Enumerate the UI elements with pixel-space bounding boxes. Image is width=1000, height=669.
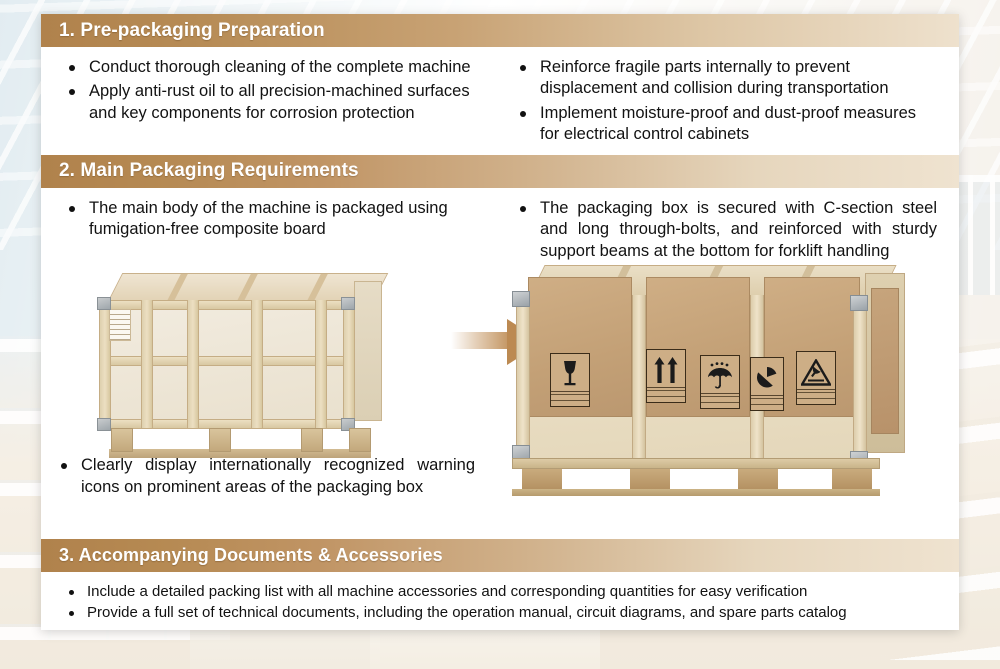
bullet-text: Conduct thorough cleaning of the complet… [89, 58, 471, 76]
section-2-right-column: The packaging box is secured with C-sect… [500, 198, 959, 265]
corner-bracket-icon [512, 291, 530, 307]
list-item: Clearly display internationally recogniz… [55, 455, 475, 498]
no-hand-hooks-icon [750, 357, 784, 411]
warning-triangle-glyph [801, 355, 831, 389]
packaging-figure-row: Clearly display internationally recogniz… [41, 265, 959, 533]
list-item: Reinforce fragile parts internally to pr… [514, 57, 937, 100]
section-1-body: Conduct thorough cleaning of the complet… [41, 47, 959, 155]
section-3-body: Include a detailed packing list with all… [41, 572, 959, 631]
section-1-right-bullet-list: Reinforce fragile parts internally to pr… [514, 57, 937, 146]
bullet-dot-icon [69, 206, 75, 212]
bullet-text: Implement moisture-proof and dust-proof … [540, 104, 916, 143]
kraft-crate-image [506, 265, 914, 501]
bullet-dot-icon [61, 463, 67, 469]
fragile-icon [550, 353, 590, 407]
bullet-dot-icon [520, 65, 526, 71]
bullet-dot-icon [69, 590, 74, 595]
umbrella-rain-glyph [706, 359, 734, 393]
bullet-dot-icon [520, 206, 526, 212]
section-3-title: 3. Accompanying Documents & Accessories [59, 545, 443, 566]
bullet-text: The packaging box is secured with C-sect… [540, 199, 937, 260]
crate-stile [632, 295, 646, 459]
crate-stile [853, 295, 867, 459]
pallet-foot [301, 428, 323, 452]
bullet-text: Provide a full set of technical document… [87, 604, 847, 621]
section-1-right-column: Reinforce fragile parts internally to pr… [500, 57, 959, 149]
crate-shipping-label [109, 309, 131, 341]
corner-bracket-icon [341, 297, 355, 310]
bullet-text: The main body of the machine is packaged… [89, 199, 448, 238]
list-item: Provide a full set of technical document… [63, 603, 959, 623]
no-hooks-glyph [755, 361, 779, 395]
up-arrows-glyph [653, 353, 679, 387]
forklift-pallet [512, 458, 880, 494]
bullet-dot-icon [520, 111, 526, 117]
bullet-dot-icon [69, 89, 75, 95]
pallet-foot [349, 428, 371, 452]
pallet-foot [209, 428, 231, 452]
crate-stile [251, 300, 263, 428]
list-item: Include a detailed packing list with all… [63, 582, 959, 602]
crate-stile [516, 295, 530, 459]
crate-stile [141, 300, 153, 428]
section-2-right-bullet-list: The packaging box is secured with C-sect… [514, 198, 937, 262]
section-2-left-lower-bullet-list: Clearly display internationally recogniz… [55, 455, 475, 498]
crate-side-panel [865, 273, 905, 453]
pallet-foot [111, 428, 133, 452]
fragile-glass-glyph [560, 357, 580, 391]
bullet-dot-icon [69, 65, 75, 71]
bullet-text: Reinforce fragile parts internally to pr… [540, 58, 889, 97]
list-item: The main body of the machine is packaged… [63, 198, 486, 241]
bullet-text: Apply anti-rust oil to all precision-mac… [89, 82, 470, 121]
section-1-left-column: Conduct thorough cleaning of the complet… [41, 57, 500, 149]
corner-bracket-icon [850, 295, 868, 311]
section-3-bullet-list: Include a detailed packing list with all… [63, 582, 959, 622]
bullet-text: Clearly display internationally recogniz… [81, 456, 475, 495]
bullet-dot-icon [69, 611, 74, 616]
list-item: The packaging box is secured with C-sect… [514, 198, 937, 262]
hazard-warning-icon [796, 351, 836, 405]
section-2-left-bullet-list: The main body of the machine is packaged… [63, 198, 486, 241]
crate-stile [343, 300, 355, 428]
keep-dry-icon [700, 355, 740, 409]
content-panel: 1. Pre-packaging Preparation Conduct tho… [41, 14, 959, 630]
corner-bracket-icon [97, 418, 111, 431]
crate-stile [315, 300, 327, 428]
section-header-3: 3. Accompanying Documents & Accessories [41, 539, 959, 572]
list-item: Implement moisture-proof and dust-proof … [514, 103, 937, 146]
section-2-left-column: The main body of the machine is packaged… [41, 198, 500, 265]
section-header-2: 2. Main Packaging Requirements [41, 155, 959, 188]
section-2-left-lower-column: Clearly display internationally recogniz… [55, 455, 475, 501]
bullet-text: Include a detailed packing list with all… [87, 583, 807, 600]
list-item: Apply anti-rust oil to all precision-mac… [63, 81, 486, 124]
crate-stile [187, 300, 199, 428]
section-2-title: 2. Main Packaging Requirements [59, 160, 359, 182]
section-2-body: The main body of the machine is packaged… [41, 188, 959, 539]
corner-bracket-icon [97, 297, 111, 310]
section-header-1: 1. Pre-packaging Preparation [41, 14, 959, 47]
this-way-up-icon [646, 349, 686, 403]
section-1-left-bullet-list: Conduct thorough cleaning of the complet… [63, 57, 486, 124]
list-item: Conduct thorough cleaning of the complet… [63, 57, 486, 78]
crate-side-panel [354, 281, 382, 421]
section-1-title: 1. Pre-packaging Preparation [59, 20, 325, 42]
plywood-crate-image [91, 273, 386, 459]
